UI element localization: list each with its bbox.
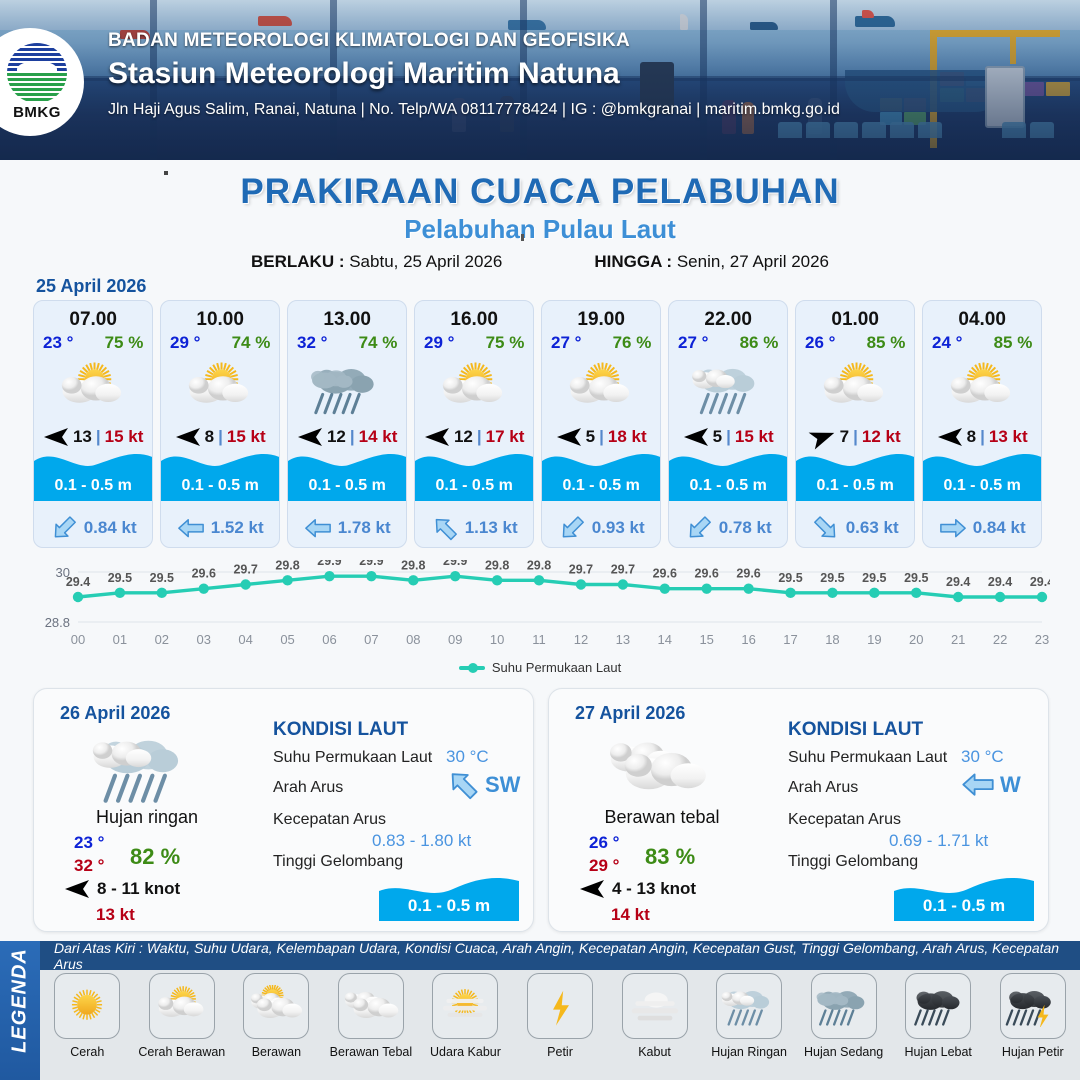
panel-temp-max: 32 ° (74, 856, 104, 876)
current-direction-arrow-icon (685, 517, 713, 539)
svg-text:12: 12 (574, 632, 588, 647)
svg-text:29.5: 29.5 (862, 571, 886, 585)
hingga-label: HINGGA : (594, 252, 672, 271)
svg-text:17: 17 (783, 632, 797, 647)
svg-text:11: 11 (532, 632, 546, 647)
card-wave-height: 0.1 - 0.5 m (415, 477, 533, 495)
card-current-speed: 0.78 kt (719, 518, 772, 538)
wind-direction-arrow-icon (937, 427, 963, 447)
legenda-sidebar-label: LEGENDA (9, 939, 32, 1063)
svg-text:15: 15 (699, 632, 713, 647)
card-separator: | (853, 427, 858, 447)
page-header: BMKG BADAN METEOROLOGI KLIMATOLOGI DAN G… (0, 0, 1080, 160)
hingga-group: HINGGA : Senin, 27 April 2026 (594, 252, 829, 272)
wind-direction-arrow-icon (810, 427, 836, 447)
svg-text:06: 06 (322, 632, 336, 647)
legenda-berawan-icon (243, 973, 309, 1039)
legenda-item-label: Cerah Berawan (138, 1045, 225, 1059)
hourly-card[interactable]: 10.00 29 ° 74 % 8 | (160, 300, 280, 548)
wind-direction-arrow-icon (297, 427, 323, 447)
legenda-item-label: Hujan Sedang (804, 1045, 883, 1059)
card-temp-hum-row: 24 ° 85 % (923, 331, 1041, 353)
svg-text:22: 22 (993, 632, 1007, 647)
panel-humidity: 83 % (645, 844, 695, 870)
panel-temps: 23 ° 32 ° (74, 833, 104, 876)
svg-text:29.8: 29.8 (401, 560, 425, 572)
hourly-card[interactable]: 19.00 27 ° 76 % 5 | (541, 300, 661, 548)
card-wave-height: 0.1 - 0.5 m (288, 477, 406, 495)
svg-text:29.5: 29.5 (820, 571, 844, 585)
daily-panel-27-april: 27 April 2026 Berawan tebal (548, 688, 1049, 932)
card-wave-band: 0.1 - 0.5 m (161, 445, 279, 501)
hourly-date-label: 25 April 2026 (36, 276, 146, 297)
legenda-hujan-ringan-icon (716, 973, 782, 1039)
card-separator: | (726, 427, 731, 447)
card-wave-height: 0.1 - 0.5 m (542, 477, 660, 495)
hourly-card[interactable]: 13.00 32 ° 74 % (287, 300, 407, 548)
svg-text:29.6: 29.6 (695, 567, 719, 581)
panel-wind-row: 4 - 13 knot (579, 879, 696, 899)
card-humidity: 76 % (613, 333, 652, 353)
panel-humidity: 82 % (130, 844, 180, 870)
svg-text:29.6: 29.6 (736, 567, 760, 581)
svg-text:29.6: 29.6 (192, 567, 216, 581)
svg-text:29.4: 29.4 (66, 575, 90, 589)
legenda-item-label: Hujan Petir (1002, 1045, 1064, 1059)
svg-text:29.8: 29.8 (485, 560, 509, 572)
svg-text:29.7: 29.7 (233, 563, 257, 577)
card-gust: 15 kt (735, 427, 774, 447)
svg-text:19: 19 (867, 632, 881, 647)
legenda-cerah-berawan-icon (149, 973, 215, 1039)
card-wind-direction: 12 (327, 427, 346, 447)
card-wave-band: 0.1 - 0.5 m (669, 445, 787, 501)
legenda-item-label: Berawan (252, 1045, 301, 1059)
card-current-row: 0.84 kt (923, 517, 1041, 539)
hourly-forecast-cards: 07.00 23 ° 75 % 13 | (33, 300, 1049, 548)
organization-name: BADAN METEOROLOGI KLIMATOLOGI DAN GEOFIS… (108, 30, 840, 52)
wind-direction-arrow-icon (683, 427, 709, 447)
card-current-row: 0.63 kt (796, 517, 914, 539)
wind-direction-arrow-icon (556, 427, 582, 447)
svg-text:16: 16 (741, 632, 755, 647)
current-direction-arrow-icon (50, 517, 78, 539)
svg-text:20: 20 (909, 632, 923, 647)
panel-current-speed-label: Kecepatan Arus (788, 811, 901, 829)
panel-sst-value: 30 °C (446, 747, 489, 767)
contact-info: Jln Haji Agus Salim, Ranai, Natuna | No.… (108, 101, 840, 119)
legenda-cerah-icon (54, 973, 120, 1039)
card-wave-height: 0.1 - 0.5 m (34, 477, 152, 495)
legenda-item: Udara Kabur (418, 973, 513, 1080)
svg-text:08: 08 (406, 632, 420, 647)
svg-text:29.4: 29.4 (946, 575, 970, 589)
legenda-hujan-petir-icon (1000, 973, 1066, 1039)
stray-dot-artifact-2 (521, 234, 524, 241)
svg-text:13: 13 (616, 632, 630, 647)
card-humidity: 86 % (740, 333, 779, 353)
panel-current-dir-group: SW (446, 771, 520, 798)
panel-wave-box: 0.1 - 0.5 m (379, 875, 519, 921)
card-current-speed: 0.93 kt (592, 518, 645, 538)
card-temperature: 27 ° (551, 333, 581, 353)
legenda-berawan-tebal-icon (338, 973, 404, 1039)
legenda-item: Cerah Berawan (135, 973, 230, 1080)
station-name: Stasiun Meteorologi Maritim Natuna (108, 57, 840, 91)
svg-text:29.7: 29.7 (611, 563, 635, 577)
card-current-speed: 0.63 kt (846, 518, 899, 538)
panel-condition: Berawan tebal (549, 807, 775, 828)
card-current-speed: 1.78 kt (338, 518, 391, 538)
card-weather-cerah-berawan-icon (161, 355, 279, 421)
berlaku-group: BERLAKU : Sabtu, 25 April 2026 (251, 252, 502, 272)
card-temperature: 23 ° (43, 333, 73, 353)
legenda-item-label: Hujan Lebat (904, 1045, 971, 1059)
legenda-item-label: Kabut (638, 1045, 671, 1059)
panel-temp-min: 26 ° (589, 833, 619, 853)
card-temp-hum-row: 23 ° 75 % (34, 331, 152, 353)
svg-text:07: 07 (364, 632, 378, 647)
card-humidity: 75 % (105, 333, 144, 353)
card-gust: 12 kt (862, 427, 901, 447)
svg-text:29.8: 29.8 (527, 560, 551, 572)
validity-row: BERLAKU : Sabtu, 25 April 2026 HINGGA : … (0, 252, 1080, 272)
panel-wind-row: 8 - 11 knot (64, 879, 180, 899)
svg-text:29.5: 29.5 (108, 571, 132, 585)
svg-text:29.9: 29.9 (317, 560, 341, 568)
panel-current-dir-group: W (961, 771, 1021, 798)
panel-current-dir-label: Arah Arus (788, 779, 858, 797)
card-wind-direction: 8 (205, 427, 214, 447)
legenda-item: Berawan Tebal (324, 973, 419, 1080)
card-gust: 14 kt (359, 427, 398, 447)
legenda-item: Berawan (229, 973, 324, 1080)
current-direction-arrow-icon (177, 517, 205, 539)
card-separator: | (350, 427, 355, 447)
legenda-item-label: Hujan Ringan (711, 1045, 787, 1059)
card-temp-hum-row: 27 ° 76 % (542, 331, 660, 353)
card-temp-hum-row: 32 ° 74 % (288, 331, 406, 353)
panel-wave-value: 0.1 - 0.5 m (379, 896, 519, 916)
card-current-speed: 0.84 kt (973, 518, 1026, 538)
card-wave-height: 0.1 - 0.5 m (923, 477, 1041, 495)
bmkg-logo-text: BMKG (1, 104, 73, 121)
legenda-item: Hujan Sedang (796, 973, 891, 1080)
legenda-item: Hujan Petir (985, 973, 1080, 1080)
card-temperature: 29 ° (170, 333, 200, 353)
card-wave-height: 0.1 - 0.5 m (669, 477, 787, 495)
hourly-card[interactable]: 04.00 24 ° 85 % 8 | (922, 300, 1042, 548)
legenda-hujan-lebat-icon (905, 973, 971, 1039)
card-weather-cerah-berawan-icon (542, 355, 660, 421)
chart-legend: Suhu Permukaan Laut (0, 660, 1080, 675)
card-wind-direction: 7 (840, 427, 849, 447)
svg-text:29.9: 29.9 (443, 560, 467, 568)
panel-temps: 26 ° 29 ° (589, 833, 619, 876)
panel-weather-hujan-ringan-icon (82, 729, 202, 805)
legenda-item-label: Petir (547, 1045, 573, 1059)
card-weather-cerah-berawan-icon (796, 355, 914, 421)
panel-temp-min: 23 ° (74, 833, 104, 853)
current-direction-arrow-icon (961, 771, 995, 798)
card-wave-height: 0.1 - 0.5 m (161, 477, 279, 495)
current-direction-arrow-icon (304, 517, 332, 539)
legenda-item-label: Berawan Tebal (330, 1045, 412, 1059)
card-humidity: 74 % (359, 333, 398, 353)
card-time: 07.00 (34, 309, 152, 331)
panel-sst-value: 30 °C (961, 747, 1004, 767)
card-current-row: 1.78 kt (288, 517, 406, 539)
hourly-card[interactable]: 01.00 26 ° 85 % 7 | (795, 300, 915, 548)
card-wind-direction: 12 (454, 427, 473, 447)
current-direction-arrow-icon (812, 517, 840, 539)
wind-direction-arrow-icon (43, 427, 69, 447)
wind-direction-arrow-icon (175, 427, 201, 447)
card-gust: 15 kt (227, 427, 266, 447)
card-humidity: 85 % (867, 333, 906, 353)
panel-wind-range: 8 - 11 knot (97, 879, 180, 899)
svg-text:03: 03 (197, 632, 211, 647)
card-weather-cerah-berawan-icon (34, 355, 152, 421)
panel-current-dir-value: SW (485, 772, 520, 798)
svg-text:21: 21 (951, 632, 965, 647)
panel-current-speed-label: Kecepatan Arus (273, 811, 386, 829)
card-humidity: 85 % (994, 333, 1033, 353)
card-wave-band: 0.1 - 0.5 m (923, 445, 1041, 501)
legenda-item: Petir (513, 973, 608, 1080)
card-wave-band: 0.1 - 0.5 m (288, 445, 406, 501)
panel-temp-max: 29 ° (589, 856, 619, 876)
current-direction-arrow-icon (446, 771, 480, 798)
wind-direction-arrow-icon (424, 427, 450, 447)
berlaku-label: BERLAKU : (251, 252, 345, 271)
card-separator: | (96, 427, 101, 447)
legenda-item-label: Cerah (70, 1045, 104, 1059)
legenda-petir-icon (527, 973, 593, 1039)
panel-date: 26 April 2026 (60, 703, 170, 724)
svg-text:00: 00 (71, 632, 85, 647)
card-temp-hum-row: 26 ° 85 % (796, 331, 914, 353)
legenda-item-label: Udara Kabur (430, 1045, 501, 1059)
wind-direction-arrow-icon (64, 879, 90, 899)
daily-panel-26-april: 26 April 2026 Hujan ringan (33, 688, 534, 932)
card-wind-direction: 13 (73, 427, 92, 447)
card-current-row: 0.78 kt (669, 517, 787, 539)
svg-text:01: 01 (113, 632, 127, 647)
card-gust: 13 kt (989, 427, 1028, 447)
card-wave-height: 0.1 - 0.5 m (796, 477, 914, 495)
svg-text:29.8: 29.8 (275, 560, 299, 572)
card-current-speed: 0.84 kt (84, 518, 137, 538)
card-current-speed: 1.52 kt (211, 518, 264, 538)
legenda-note: Dari Atas Kiri : Waktu, Suhu Udara, Kele… (40, 941, 1080, 970)
card-weather-cerah-berawan-icon (415, 355, 533, 421)
card-temperature: 29 ° (424, 333, 454, 353)
card-current-speed: 1.13 kt (465, 518, 518, 538)
svg-text:29.9: 29.9 (359, 560, 383, 568)
card-temp-hum-row: 29 ° 74 % (161, 331, 279, 353)
panel-wave-box: 0.1 - 0.5 m (894, 875, 1034, 921)
legenda-item: Hujan Lebat (891, 973, 986, 1080)
card-weather-cerah-berawan-icon (923, 355, 1041, 421)
legend-line-marker-icon (459, 666, 485, 670)
card-wind-direction: 5 (586, 427, 595, 447)
card-time: 04.00 (923, 309, 1041, 331)
card-wave-band: 0.1 - 0.5 m (34, 445, 152, 501)
panel-sea-title: KONDISI LAUT (273, 719, 408, 741)
card-separator: | (477, 427, 482, 447)
svg-text:29.4: 29.4 (1030, 575, 1050, 589)
svg-text:18: 18 (825, 632, 839, 647)
page-subtitle: Pelabuhan Pulau Laut (0, 214, 1080, 245)
svg-text:10: 10 (490, 632, 504, 647)
panel-weather-berawan-tebal-icon (597, 729, 717, 805)
svg-text:29.5: 29.5 (904, 571, 928, 585)
wind-direction-arrow-icon (579, 879, 605, 899)
svg-text:29.5: 29.5 (150, 571, 174, 585)
panel-wave-label: Tinggi Gelombang (788, 853, 918, 871)
card-humidity: 75 % (486, 333, 525, 353)
current-direction-arrow-icon (431, 517, 459, 539)
card-separator: | (599, 427, 604, 447)
legend-label: Suhu Permukaan Laut (492, 660, 621, 675)
legenda-item: Hujan Ringan (702, 973, 797, 1080)
card-time: 01.00 (796, 309, 914, 331)
hourly-card[interactable]: 22.00 27 ° 86 % (668, 300, 788, 548)
panel-current-dir-value: W (1000, 772, 1021, 798)
current-direction-arrow-icon (558, 517, 586, 539)
card-gust: 17 kt (486, 427, 525, 447)
card-temperature: 27 ° (678, 333, 708, 353)
svg-text:02: 02 (155, 632, 169, 647)
panel-wave-value: 0.1 - 0.5 m (894, 896, 1034, 916)
legend-section: LEGENDA Dari Atas Kiri : Waktu, Suhu Uda… (0, 941, 1080, 1080)
card-wave-band: 0.1 - 0.5 m (415, 445, 533, 501)
card-temperature: 24 ° (932, 333, 962, 353)
card-current-row: 1.52 kt (161, 517, 279, 539)
bmkg-logo-circle-icon (7, 43, 67, 103)
card-humidity: 74 % (232, 333, 271, 353)
svg-text:29.6: 29.6 (653, 567, 677, 581)
current-direction-arrow-icon (939, 517, 967, 539)
legenda-items: Cerah Cerah Berawan (40, 973, 1080, 1080)
card-gust: 18 kt (608, 427, 647, 447)
svg-text:28.8: 28.8 (45, 615, 70, 630)
panel-date: 27 April 2026 (575, 703, 685, 724)
svg-text:14: 14 (658, 632, 672, 647)
svg-text:09: 09 (448, 632, 462, 647)
card-temp-hum-row: 29 ° 75 % (415, 331, 533, 353)
panel-gust: 13 kt (96, 905, 135, 925)
legenda-item: Cerah (40, 973, 135, 1080)
card-time: 13.00 (288, 309, 406, 331)
bmkg-logo: BMKG (0, 28, 84, 136)
panel-wave-label: Tinggi Gelombang (273, 853, 403, 871)
svg-text:05: 05 (280, 632, 294, 647)
panel-condition: Hujan ringan (34, 807, 260, 828)
card-current-row: 0.84 kt (34, 517, 152, 539)
hingga-value: Senin, 27 April 2026 (677, 252, 829, 271)
hourly-card[interactable]: 16.00 29 ° 75 % 12 | (414, 300, 534, 548)
card-time: 10.00 (161, 309, 279, 331)
panel-gust: 14 kt (611, 905, 650, 925)
card-wave-band: 0.1 - 0.5 m (796, 445, 914, 501)
legenda-udara-kabur-icon (432, 973, 498, 1039)
legenda-hujan-sedang-icon (811, 973, 877, 1039)
legenda-kabut-icon (622, 973, 688, 1039)
panel-current-dir-label: Arah Arus (273, 779, 343, 797)
panel-current-speed-value: 0.69 - 1.71 kt (889, 831, 988, 851)
card-wind-direction: 5 (713, 427, 722, 447)
panel-sea-title: KONDISI LAUT (788, 719, 923, 741)
card-temp-hum-row: 27 ° 86 % (669, 331, 787, 353)
card-weather-hujan-sedang-icon (288, 355, 406, 421)
card-time: 22.00 (669, 309, 787, 331)
card-wind-direction: 8 (967, 427, 976, 447)
card-time: 19.00 (542, 309, 660, 331)
card-gust: 15 kt (105, 427, 144, 447)
page-title: PRAKIRAAN CUACA PELABUHAN (0, 172, 1080, 212)
svg-text:29.4: 29.4 (988, 575, 1012, 589)
card-separator: | (218, 427, 223, 447)
svg-text:04: 04 (238, 632, 252, 647)
svg-text:23: 23 (1035, 632, 1049, 647)
card-current-row: 0.93 kt (542, 517, 660, 539)
card-separator: | (980, 427, 985, 447)
hourly-card[interactable]: 07.00 23 ° 75 % 13 | (33, 300, 153, 548)
panel-wind-range: 4 - 13 knot (612, 879, 696, 899)
card-wave-band: 0.1 - 0.5 m (542, 445, 660, 501)
berlaku-value: Sabtu, 25 April 2026 (349, 252, 502, 271)
card-temperature: 32 ° (297, 333, 327, 353)
svg-text:29.7: 29.7 (569, 563, 593, 577)
svg-text:29.5: 29.5 (778, 571, 802, 585)
legenda-item: Kabut (607, 973, 702, 1080)
card-current-row: 1.13 kt (415, 517, 533, 539)
legenda-sidebar: LEGENDA (0, 941, 40, 1080)
card-weather-hujan-ringan-icon (669, 355, 787, 421)
card-temperature: 26 ° (805, 333, 835, 353)
panel-sst-label: Suhu Permukaan Laut (788, 749, 947, 767)
panel-current-speed-value: 0.83 - 1.80 kt (372, 831, 471, 851)
panel-sst-label: Suhu Permukaan Laut (273, 749, 432, 767)
card-time: 16.00 (415, 309, 533, 331)
